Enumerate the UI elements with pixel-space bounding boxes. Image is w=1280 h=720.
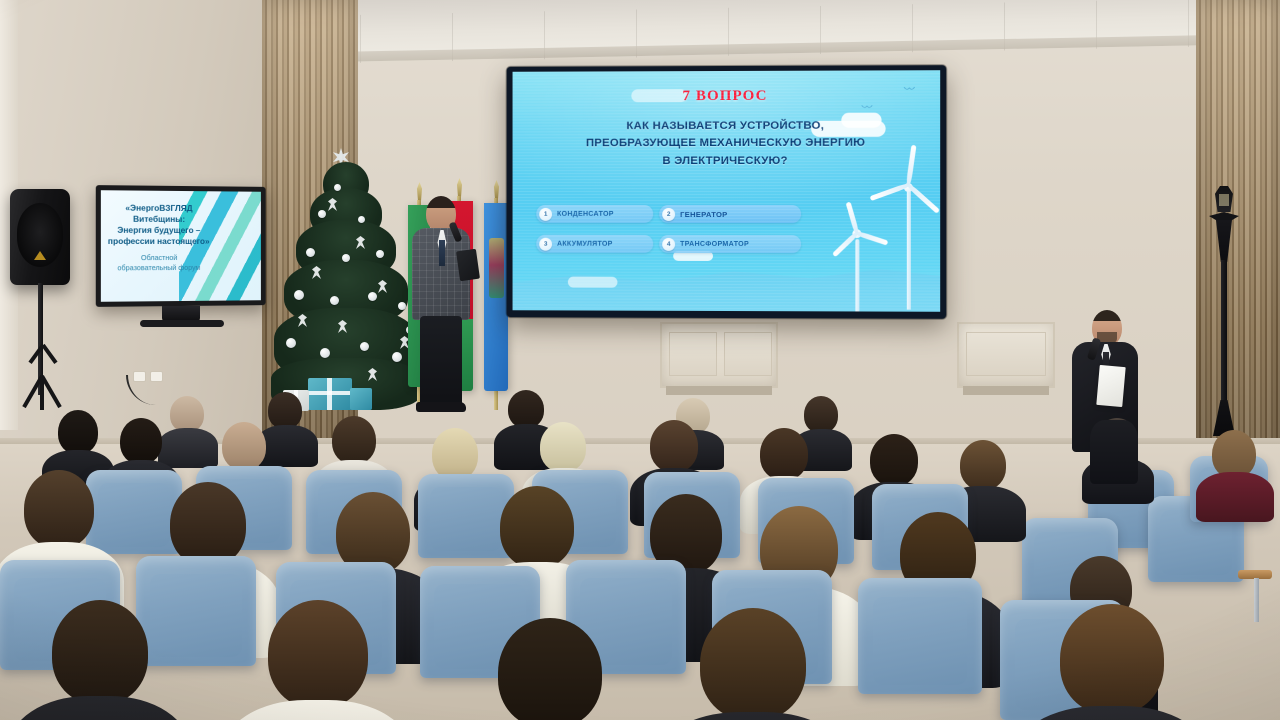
monitor-title-line-4: профессии настоящего» (107, 236, 211, 247)
slide-question-number: 7 ВОПРОС (513, 87, 941, 105)
flag-vitebsk-emblem-icon (489, 238, 504, 298)
monitor-subtitle-line-1: Областной (107, 253, 211, 263)
answer-1-number: 1 (539, 207, 552, 220)
seat-near-2 (136, 556, 256, 666)
answer-option-3[interactable]: 3 АККУМУЛЯТОР (536, 235, 653, 253)
lamp-post (1207, 186, 1241, 436)
answer-3-number: 3 (539, 237, 552, 250)
gift-box-teal-large (308, 378, 352, 410)
slide-answer-options: 1 КОНДЕНСАТОР 2 ГЕНЕРАТОР 3 АККУМУЛЯТОР … (536, 205, 797, 253)
radiator-cover-center (660, 322, 778, 388)
tripod-leg-center (40, 376, 44, 410)
presenter-right-paper (1096, 365, 1125, 407)
presentation-display: 7 ВОПРОС КАК НАЗЫВАЕТСЯ УСТРОЙСТВО, ПРЕО… (507, 65, 947, 319)
presenter-left (410, 196, 480, 414)
christmas-tree (272, 162, 420, 414)
monitor-base (140, 320, 224, 327)
answer-option-1[interactable]: 1 КОНДЕНСАТОР (536, 205, 653, 223)
presenter-left-tie (439, 240, 445, 266)
slide-question-text: КАК НАЗЫВАЕТСЯ УСТРОЙСТВО, ПРЕОБРАЗУЮЩЕЕ… (534, 118, 918, 171)
side-monitor: «ЭнергоВЗГЛЯД Витебщины: Энергия будущег… (96, 185, 266, 307)
seat-leg-right-2 (1254, 578, 1259, 622)
presenter-left-trousers (420, 316, 462, 406)
seat-mid-1 (86, 470, 182, 554)
slide-bird-2-icon (861, 105, 872, 111)
answer-2-label: ГЕНЕРАТОР (680, 209, 727, 218)
answer-4-label: ТРАНСФОРМАТОР (680, 240, 749, 248)
wind-turbine-back (880, 157, 941, 310)
monitor-title-line-3: Энергия будущего – (107, 225, 211, 236)
monitor-subtitle: Областной образовательный форум (107, 253, 211, 273)
monitor-title-line-1: «ЭнергоВЗГЛЯД (107, 202, 211, 214)
question-line-2: ПРЕОБРАЗУЮЩЕЕ МЕХАНИЧЕСКУЮ ЭНЕРГИЮ (534, 135, 918, 153)
answer-3-label: АККУМУЛЯТОР (557, 240, 613, 248)
radiator-legs-center (666, 386, 772, 395)
seat-mid-4 (418, 474, 514, 558)
answer-option-4[interactable]: 4 ТРАНСФОРМАТОР (659, 235, 801, 253)
speaker-brand-logo-icon (34, 251, 46, 260)
wind-turbine-front (833, 207, 885, 312)
presentation-slide: 7 ВОПРОС КАК НАЗЫВАЕТСЯ УСТРОЙСТВО, ПРЕО… (513, 70, 941, 312)
monitor-subtitle-line-2: образовательный форум (107, 263, 211, 273)
lamp-column (1221, 260, 1227, 404)
radiator-cover-right (957, 322, 1055, 388)
answer-4-number: 4 (662, 237, 675, 250)
side-monitor-screen: «ЭнергоВЗГЛЯД Витебщины: Энергия будущег… (101, 190, 261, 302)
radiator-legs-right (963, 386, 1049, 395)
slide-cloud-5 (568, 277, 618, 288)
lamp-body (1216, 220, 1232, 262)
question-line-1: КАК НАЗЫВАЕТСЯ УСТРОЙСТВО, (534, 118, 918, 136)
seat-near-7 (858, 578, 982, 694)
answer-2-number: 2 (662, 207, 675, 220)
gift-box-teal-small (350, 388, 372, 410)
presenter-left-shoes (416, 402, 466, 412)
monitor-title-line-2: Витебщины: (107, 214, 211, 226)
question-line-3: В ЭЛЕКТРИЧЕСКУЮ? (534, 152, 918, 170)
lamp-glass (1219, 194, 1229, 206)
answer-1-label: КОНДЕНСАТОР (557, 210, 614, 218)
presenter-left-folder (456, 249, 480, 281)
auditorium-scene: «ЭнергоВЗГЛЯД Витебщины: Энергия будущег… (0, 0, 1280, 720)
monitor-title: «ЭнергоВЗГЛЯД Витебщины: Энергия будущег… (107, 202, 211, 247)
answer-option-2[interactable]: 2 ГЕНЕРАТОР (659, 205, 801, 223)
pa-speaker-cabinet (10, 189, 70, 285)
